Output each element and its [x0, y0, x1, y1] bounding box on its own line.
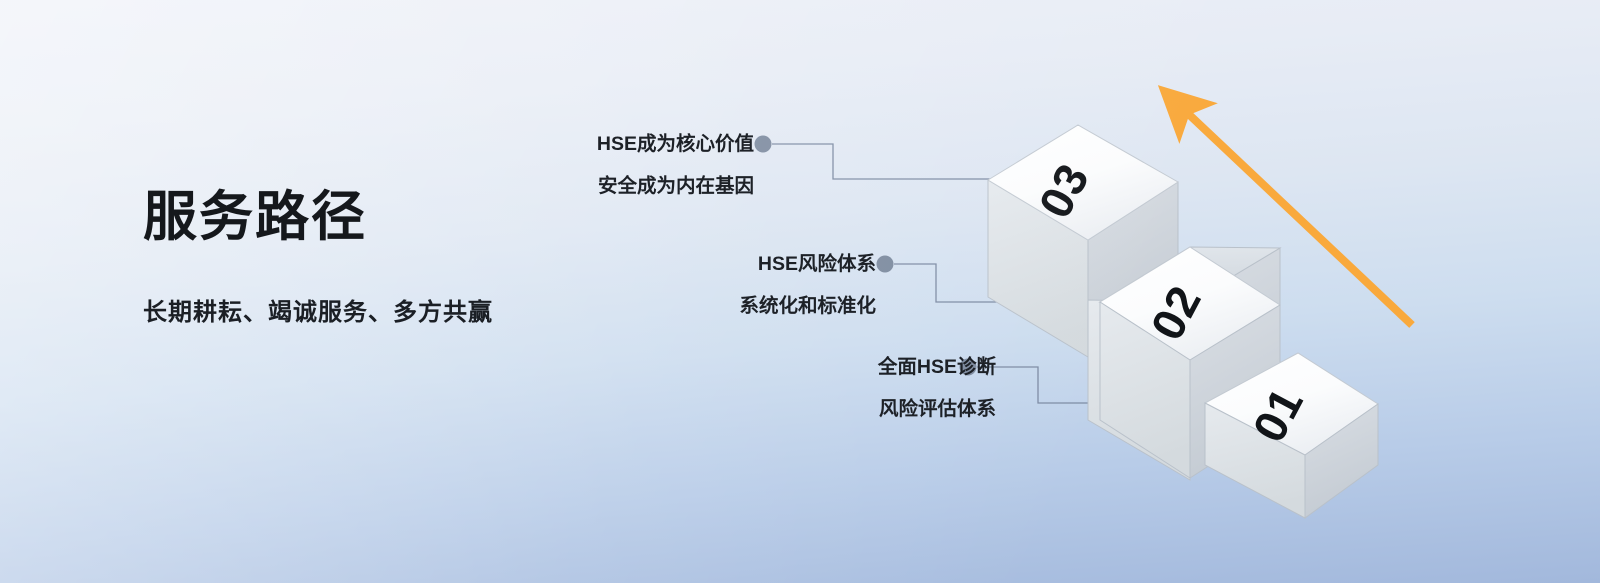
callout-step-03-line2: 安全成为内在基因 [597, 177, 754, 197]
connector-step-03 [772, 144, 1000, 179]
callout-step-01-line2: 风险评估体系 [878, 400, 996, 420]
callout-step-02: HSE风险体系 系统化和标准化 [739, 255, 876, 316]
dot-step-03[interactable] [755, 136, 772, 153]
callout-step-03-line1: HSE成为核心价值 [597, 135, 754, 155]
headline-block: 服务路径 长期耕耘、竭诚服务、多方共赢 [143, 186, 663, 327]
dot-step-02[interactable] [877, 256, 894, 273]
callout-step-01: 全面HSE诊断 风险评估体系 [878, 358, 996, 419]
slide-canvas: 03 02 01 服务路径 [0, 0, 1600, 583]
callout-step-01-line1: 全面HSE诊断 [878, 358, 996, 378]
callout-step-02-line2: 系统化和标准化 [739, 297, 876, 317]
page-title: 服务路径 [143, 186, 663, 248]
page-subtitle: 长期耕耘、竭诚服务、多方共赢 [143, 292, 663, 327]
callout-step-02-line1: HSE风险体系 [739, 255, 876, 275]
callout-step-03: HSE成为核心价值 安全成为内在基因 [597, 135, 754, 196]
